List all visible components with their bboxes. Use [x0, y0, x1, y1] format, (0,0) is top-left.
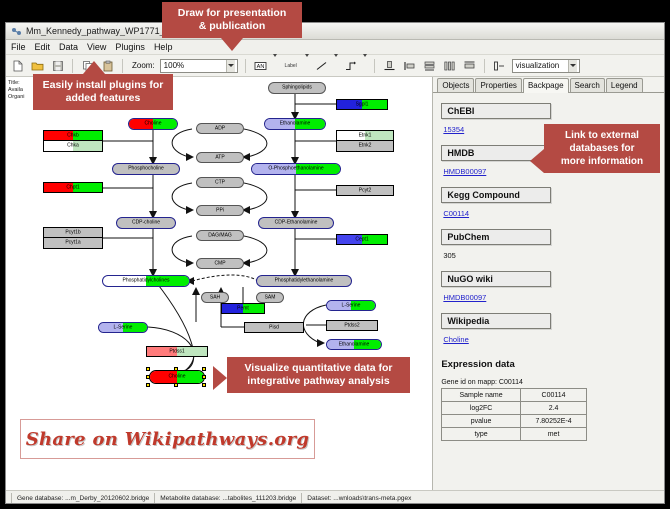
selection-handle-s[interactable] — [174, 383, 178, 387]
callout-plugins-arrow — [83, 61, 105, 74]
toolbar-separator-3 — [245, 59, 246, 73]
label-icon-text: Label — [285, 63, 297, 69]
node-label: CTP — [197, 180, 243, 185]
node-label: Pcyt2 — [337, 188, 393, 193]
node-cept1[interactable]: Cept1 — [336, 234, 388, 245]
selection-handle-n[interactable] — [174, 367, 178, 371]
node-label: L-Serine — [99, 325, 147, 330]
node-choline-selected[interactable]: Choline — [149, 370, 205, 384]
status-dataset: Dataset: ...wnloads\trans-meta.pgex — [301, 493, 416, 504]
callout-visualize: Visualize quantitative data for integrat… — [227, 357, 410, 393]
expression-data-title: Expression data — [441, 359, 656, 370]
node-adp[interactable]: ADP — [196, 123, 244, 134]
node-label: Etnk1 — [337, 133, 393, 138]
node-phosphatidylcholines[interactable]: Phosphatidylcholines — [102, 275, 190, 287]
cell-value: 7.80252E-4 — [520, 415, 587, 428]
cell-key: type — [442, 428, 520, 441]
interaction-icon[interactable] — [343, 58, 358, 73]
table-row: Sample name C00114 — [442, 389, 587, 402]
node-cdp-ethanolamine[interactable]: CDP-Ethanolamine — [258, 217, 334, 229]
cell-value: 2.4 — [520, 402, 587, 415]
node-label: CDP-choline — [117, 221, 175, 226]
node-chka[interactable]: Chka — [43, 141, 103, 152]
node-label: L-Serine — [327, 303, 375, 308]
link-chebi[interactable]: 15354 — [443, 125, 464, 134]
node-label: Cept1 — [337, 237, 387, 242]
node-label: ADP — [197, 126, 243, 131]
node-dag-mag[interactable]: DAG/MAG — [196, 230, 244, 241]
node-pcyt1b[interactable]: Pcyt1b — [43, 227, 103, 238]
cell-value: met — [520, 428, 587, 441]
zoom-value: 100% — [164, 61, 184, 70]
menu-item-file[interactable]: File — [11, 42, 26, 52]
selection-handle-nw[interactable] — [146, 367, 150, 371]
node-phosphocholine[interactable]: Phosphocholine — [112, 163, 180, 175]
callout-plugins-text: Easily install plugins for added feature… — [41, 79, 165, 105]
zoom-combobox[interactable]: 100% — [160, 59, 238, 73]
node-label: Pcyt1a — [44, 241, 102, 246]
node-cmp[interactable]: CMP — [196, 258, 244, 269]
selection-handle-ne[interactable] — [202, 367, 206, 371]
node-label: Sgpl1 — [337, 102, 387, 107]
callout-draw-presentation-text: Draw for presentation & publication — [170, 7, 294, 33]
node-label: Ptdss1 — [147, 349, 207, 354]
zoom-chevron-down-icon[interactable] — [226, 60, 235, 72]
visualization-combobox[interactable]: visualization — [512, 59, 580, 73]
node-chkb[interactable]: Chkb — [43, 130, 103, 141]
node-pisd[interactable]: Pisd — [244, 322, 304, 333]
node-label: O-Phosphoethanolamine — [252, 167, 340, 172]
selection-handle-se[interactable] — [202, 383, 206, 387]
status-bar: Gene database: ...m_Derby_20120602.bridg… — [6, 490, 664, 504]
node-label: CDP-Ethanolamine — [259, 221, 333, 226]
node-etnk2[interactable]: Etnk2 — [336, 141, 394, 152]
node-pcyt2[interactable]: Pcyt2 — [336, 185, 394, 196]
visualization-icon[interactable] — [492, 58, 507, 73]
node-o-phosphoethanolamine[interactable]: O-Phosphoethanolamine — [251, 163, 341, 175]
node-ptdss1[interactable]: Ptdss1 — [146, 346, 208, 357]
node-label: SAM — [257, 295, 283, 300]
node-label: DAG/MAG — [197, 233, 243, 238]
tab-search[interactable]: Search — [570, 78, 605, 92]
toolbar-separator-5 — [484, 59, 485, 73]
toolbar-separator-2 — [122, 59, 123, 73]
callout-draw-presentation: Draw for presentation & publication — [162, 2, 302, 38]
node-choline-top[interactable]: Choline — [128, 118, 178, 130]
node-ptdss2[interactable]: Ptdss2 — [326, 320, 378, 331]
table-row: log2FC 2.4 — [442, 402, 587, 415]
label-chevron-down-icon[interactable] — [305, 57, 309, 75]
new-file-icon[interactable] — [10, 58, 25, 73]
node-etnk1[interactable]: Etnk1 — [336, 130, 394, 141]
tab-backpage[interactable]: Backpage — [523, 78, 569, 93]
toolbar-separator-1 — [72, 59, 73, 73]
cell-value: C00114 — [520, 389, 587, 402]
node-cdp-choline[interactable]: CDP-choline — [116, 217, 176, 229]
node-ppi[interactable]: PPi — [196, 205, 244, 216]
node-atp[interactable]: ATP — [196, 152, 244, 163]
menu-item-view[interactable]: View — [87, 42, 106, 52]
node-pemt[interactable]: Pemt — [221, 303, 265, 314]
section-heading-wikipedia: Wikipedia — [441, 313, 551, 329]
menu-item-help[interactable]: Help — [154, 42, 173, 52]
gene-id-line: Gene id on mapp: C00114 — [441, 379, 656, 386]
node-ctp[interactable]: CTP — [196, 177, 244, 188]
align-top-icon[interactable] — [382, 58, 397, 73]
open-folder-icon[interactable] — [30, 58, 45, 73]
table-row: pvalue 7.80252E-4 — [442, 415, 587, 428]
svg-text:AN: AN — [256, 64, 264, 70]
datanode-icon[interactable]: AN — [253, 58, 268, 73]
callout-visualize-text: Visualize quantitative data for integrat… — [235, 362, 402, 388]
node-label: ATP — [197, 155, 243, 160]
section-heading-nugo-wiki: NuGO wiki — [441, 271, 551, 287]
callout-draw-arrow — [221, 38, 243, 51]
cell-key: log2FC — [442, 402, 520, 415]
link-nugo-wiki[interactable]: HMDB00097 — [443, 293, 486, 302]
node-sah[interactable]: SAH — [201, 292, 229, 303]
node-pcyt1a[interactable]: Pcyt1a — [43, 238, 103, 249]
node-label: Pisd — [245, 325, 303, 330]
visualization-value: visualization — [516, 61, 560, 70]
menu-bar: File Edit Data View Plugins Help — [6, 40, 664, 55]
selection-handle-w[interactable] — [146, 375, 150, 379]
section-heading-pubchem: PubChem — [441, 229, 551, 245]
label-icon[interactable]: Label — [282, 58, 300, 73]
node-label: Phosphocholine — [113, 167, 179, 172]
selection-handle-sw[interactable] — [146, 383, 150, 387]
node-ethanolamine[interactable]: Ethanolamine — [264, 118, 326, 130]
line-icon[interactable] — [314, 58, 329, 73]
value-pubchem: 305 — [443, 251, 456, 260]
callout-external-links-text: Link to external databases for more info… — [552, 129, 652, 168]
callout-share: Share on Wikipathways.org — [20, 419, 315, 459]
status-gene-database: Gene database: ...m_Derby_20120602.bridg… — [11, 493, 154, 504]
menu-item-plugins[interactable]: Plugins — [115, 42, 145, 52]
tab-properties[interactable]: Properties — [475, 78, 521, 92]
node-label: Pcyt1b — [44, 230, 102, 235]
side-panel-tabs: Objects Properties Backpage Search Legen… — [433, 77, 664, 93]
pathvisio-icon — [11, 26, 22, 37]
node-label: Ethanolamine — [327, 342, 381, 347]
cell-key: Sample name — [442, 389, 520, 402]
align-left-icon[interactable] — [402, 58, 417, 73]
node-label: Chpt1 — [44, 185, 102, 190]
node-l-serine-left[interactable]: L-Serine — [98, 322, 148, 333]
datanode-chevron-down-icon[interactable] — [273, 57, 277, 75]
section-heading-kegg: Kegg Compound — [441, 187, 551, 203]
section-heading-chebi: ChEBI — [441, 103, 551, 119]
save-icon[interactable] — [50, 58, 65, 73]
link-wikipedia[interactable]: Choline — [443, 335, 468, 344]
distribute-icon[interactable] — [442, 58, 457, 73]
node-sgpl1[interactable]: Sgpl1 — [336, 99, 388, 110]
cell-key: pvalue — [442, 415, 520, 428]
node-label: Ptdss2 — [327, 323, 377, 328]
window-titlebar: Mm_Kennedy_pathway_WP1771_45176.gpml — [6, 23, 664, 40]
node-label: Chka — [44, 144, 102, 149]
node-label: Ethanolamine — [265, 122, 325, 127]
callout-visualize-arrow — [213, 366, 227, 390]
link-hmdb[interactable]: HMDB00097 — [443, 167, 486, 176]
tab-legend[interactable]: Legend — [606, 78, 643, 92]
node-label: Phosphatidylethanolamine — [257, 279, 351, 284]
callout-external-links-arrow — [530, 149, 544, 173]
zoom-label: Zoom: — [132, 61, 155, 70]
node-sphingolipids[interactable]: Sphingolipids — [268, 82, 326, 94]
node-l-serine-right[interactable]: L-Serine — [326, 300, 376, 311]
menu-item-data[interactable]: Data — [59, 42, 78, 52]
node-label: Chkb — [44, 133, 102, 138]
tab-objects[interactable]: Objects — [437, 78, 474, 92]
node-label: Pemt — [222, 306, 264, 311]
node-label: Phosphatidylcholines — [103, 279, 189, 284]
menu-item-edit[interactable]: Edit — [35, 42, 51, 52]
node-label: Sphingolipids — [269, 86, 325, 91]
selection-handle-e[interactable] — [202, 375, 206, 379]
interaction-chevron-down-icon[interactable] — [363, 57, 367, 75]
node-label: Etnk2 — [337, 144, 393, 149]
node-phosphatidylethanolamine[interactable]: Phosphatidylethanolamine — [256, 275, 352, 287]
node-label: PPi — [197, 208, 243, 213]
callout-share-text: Share on Wikipathways.org — [26, 429, 310, 450]
node-label: Choline — [129, 122, 177, 127]
visualization-chevron-down-icon[interactable] — [568, 60, 577, 72]
node-sam[interactable]: SAM — [256, 292, 284, 303]
stack-icon[interactable] — [422, 58, 437, 73]
common-width-icon[interactable] — [462, 58, 477, 73]
table-row: type met — [442, 428, 587, 441]
link-kegg[interactable]: C00114 — [443, 209, 469, 218]
callout-plugins: Easily install plugins for added feature… — [33, 74, 173, 110]
node-label: CMP — [197, 261, 243, 266]
node-chpt1[interactable]: Chpt1 — [43, 182, 103, 193]
node-label: Choline — [150, 375, 204, 380]
line-chevron-down-icon[interactable] — [334, 57, 338, 75]
expression-table: Sample name C00114 log2FC 2.4 pvalue 7.8… — [441, 388, 587, 441]
node-label: SAH — [202, 295, 228, 300]
toolbar-separator-4 — [374, 59, 375, 73]
status-metabolite-database: Metabolite database: ...tabolites_111203… — [154, 493, 301, 504]
node-ethanolamine-bottom[interactable]: Ethanolamine — [326, 339, 382, 350]
callout-external-links: Link to external databases for more info… — [544, 124, 660, 173]
